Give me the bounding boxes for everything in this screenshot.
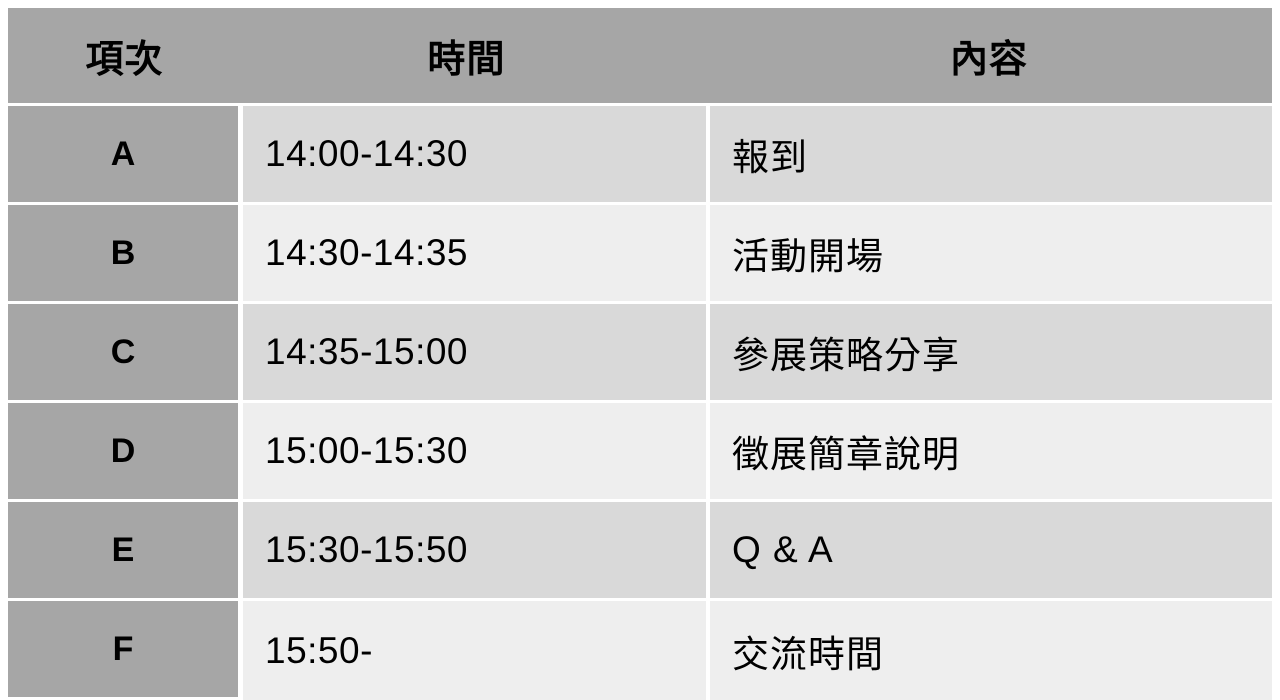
cell-index: E [8,502,243,601]
cell-time: 14:00-14:30 [243,106,710,205]
cell-index: B [8,205,243,304]
cell-index: A [8,106,243,205]
table-row: E15:30-15:50Q & A [8,502,1272,601]
table-body: A14:00-14:30報到B14:30-14:35活動開場C14:35-15:… [8,106,1272,700]
column-header-index: 項次 [8,8,243,106]
cell-content: 徵展簡章說明 [710,403,1272,502]
cell-time: 14:35-15:00 [243,304,710,403]
table-row: D15:00-15:30徵展簡章說明 [8,403,1272,502]
table-row: B14:30-14:35活動開場 [8,205,1272,304]
cell-content: 參展策略分享 [710,304,1272,403]
cell-time: 15:00-15:30 [243,403,710,502]
table-row: A14:00-14:30報到 [8,106,1272,205]
table-header: 項次 時間 內容 [8,8,1272,106]
agenda-table: 項次 時間 內容 A14:00-14:30報到B14:30-14:35活動開場C… [8,8,1272,700]
cell-content: Q & A [710,502,1272,601]
cell-time: 14:30-14:35 [243,205,710,304]
column-header-time: 時間 [243,8,710,106]
table-row: C14:35-15:00參展策略分享 [8,304,1272,403]
cell-content: 報到 [710,106,1272,205]
cell-index: F [8,601,243,700]
cell-time: 15:50- [243,601,710,700]
cell-index: C [8,304,243,403]
table-row: F15:50-交流時間 [8,601,1272,700]
header-row: 項次 時間 內容 [8,8,1272,106]
cell-content: 活動開場 [710,205,1272,304]
cell-index: D [8,403,243,502]
cell-time: 15:30-15:50 [243,502,710,601]
cell-content: 交流時間 [710,601,1272,700]
column-header-content: 內容 [710,8,1272,106]
